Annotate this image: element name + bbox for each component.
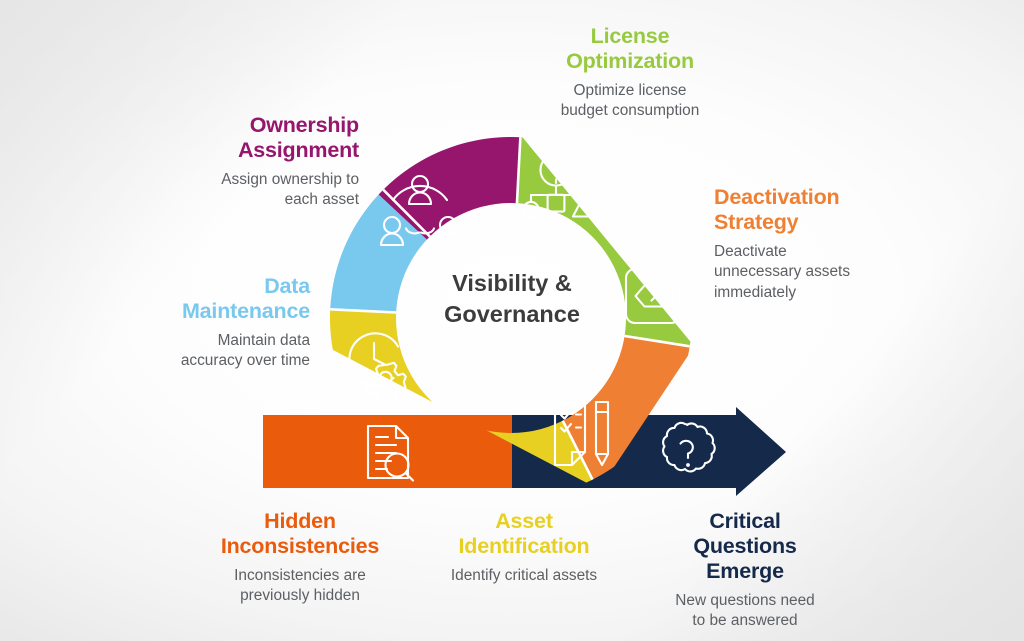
label-license-optimization: License Optimization Optimize license bu… — [505, 24, 755, 122]
label-critical-questions: Critical Questions Emerge New questions … — [640, 509, 850, 631]
label-hidden-inconsistencies: Hidden Inconsistencies Inconsistencies a… — [186, 509, 414, 607]
process-arrow-band — [263, 407, 786, 496]
label-data-title: Data Maintenance — [114, 274, 310, 324]
label-deactivation-desc: Deactivate unnecessary assets immediatel… — [714, 242, 944, 303]
label-deactivation-strategy: Deactivation Strategy Deactivate unneces… — [714, 185, 944, 303]
label-hidden-desc: Inconsistencies are previously hidden — [186, 566, 414, 607]
label-data-desc: Maintain data accuracy over time — [114, 331, 310, 372]
infographic-canvas: Visibility & Governance License Optimiza… — [0, 0, 1024, 641]
label-asset-title: Asset Identification — [424, 509, 624, 559]
label-deactivation-title: Deactivation Strategy — [714, 185, 944, 235]
label-critical-title: Critical Questions Emerge — [640, 509, 850, 584]
label-hidden-title: Hidden Inconsistencies — [186, 509, 414, 559]
label-ownership-assignment: Ownership Assignment Assign ownership to… — [114, 113, 359, 211]
label-asset-identification: Asset Identification Identify critical a… — [424, 509, 624, 586]
center-label: Visibility & Governance — [406, 268, 618, 331]
label-license-desc: Optimize license budget consumption — [505, 81, 755, 122]
label-critical-desc: New questions need to be answered — [640, 591, 850, 632]
label-asset-desc: Identify critical assets — [424, 566, 624, 586]
label-license-title: License Optimization — [505, 24, 755, 74]
label-ownership-title: Ownership Assignment — [114, 113, 359, 163]
label-data-maintenance: Data Maintenance Maintain data accuracy … — [114, 274, 310, 372]
label-ownership-desc: Assign ownership to each asset — [114, 170, 359, 211]
